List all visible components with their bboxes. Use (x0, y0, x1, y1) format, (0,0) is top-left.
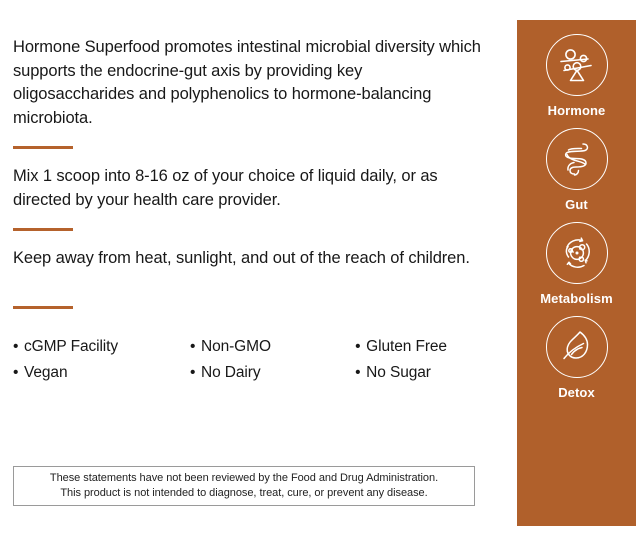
list-item-label: Vegan (24, 364, 67, 381)
disclaimer-line-2: This product is not intended to diagnose… (60, 486, 427, 501)
bullet-marker-icon: • (355, 334, 366, 360)
molecule-cycle-icon (555, 231, 599, 275)
list-item-label: cGMP Facility (24, 338, 118, 355)
badge-label: Metabolism (540, 291, 613, 306)
badge-circle (546, 222, 608, 284)
list-item-label: Non-GMO (201, 338, 271, 355)
description-paragraph: Hormone Superfood promotes intestinal mi… (13, 36, 483, 130)
bullet-column-2: •Non-GMO •No Dairy (190, 334, 355, 386)
benefit-badge-detox: Detox (517, 316, 636, 400)
badge-circle (546, 34, 608, 96)
badge-label: Hormone (548, 103, 606, 118)
leaf-icon (555, 325, 599, 369)
bullet-marker-icon: • (190, 334, 201, 360)
bullet-column-1: •cGMP Facility •Vegan (13, 334, 190, 386)
list-item: •Gluten Free (355, 334, 483, 360)
intestine-icon (555, 137, 599, 181)
certification-bullet-list: •cGMP Facility •Vegan •Non-GMO •No Dairy… (13, 334, 483, 386)
hormone-balance-icon (555, 43, 599, 87)
divider-rule-3 (13, 306, 73, 309)
bullet-column-3: •Gluten Free •No Sugar (355, 334, 483, 386)
benefits-sidebar: Hormone Gut (517, 20, 636, 526)
list-item: •No Dairy (190, 360, 355, 386)
divider-rule-2 (13, 228, 73, 231)
fda-disclaimer-box: These statements have not been reviewed … (13, 466, 475, 506)
bullet-marker-icon: • (13, 334, 24, 360)
badge-label: Gut (565, 197, 588, 212)
disclaimer-line-1: These statements have not been reviewed … (50, 471, 438, 486)
list-item-label: No Dairy (201, 364, 261, 381)
badge-label: Detox (558, 385, 595, 400)
list-item: •No Sugar (355, 360, 483, 386)
list-item: •Vegan (13, 360, 190, 386)
list-item: •Non-GMO (190, 334, 355, 360)
list-item-label: Gluten Free (366, 338, 447, 355)
product-info-panel: Hormone Superfood promotes intestinal mi… (13, 0, 491, 544)
benefit-badge-metabolism: Metabolism (517, 222, 636, 306)
badge-circle (546, 316, 608, 378)
divider-rule-1 (13, 146, 73, 149)
storage-warning-paragraph: Keep away from heat, sunlight, and out o… (13, 247, 475, 271)
list-item: •cGMP Facility (13, 334, 190, 360)
bullet-marker-icon: • (355, 360, 366, 386)
benefit-badge-hormone: Hormone (517, 34, 636, 118)
directions-paragraph: Mix 1 scoop into 8-16 oz of your choice … (13, 165, 483, 212)
bullet-marker-icon: • (13, 360, 24, 386)
benefit-badge-gut: Gut (517, 128, 636, 212)
bullet-marker-icon: • (190, 360, 201, 386)
list-item-label: No Sugar (366, 364, 431, 381)
badge-circle (546, 128, 608, 190)
